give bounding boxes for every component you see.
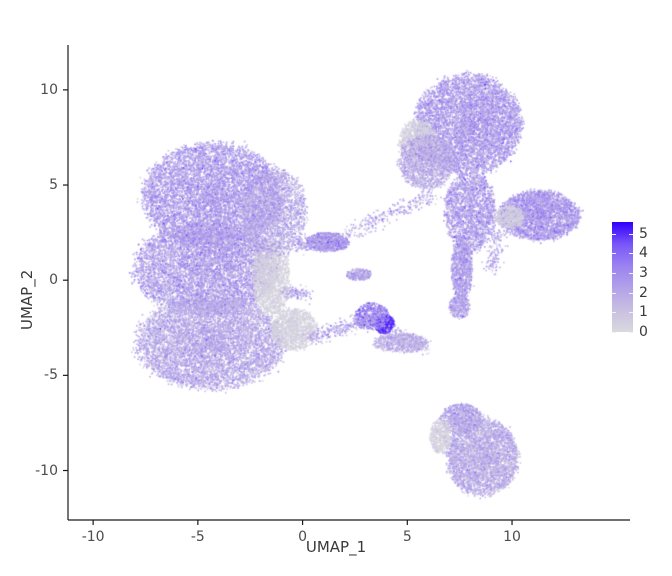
- scatter-plot-canvas: [0, 0, 672, 576]
- legend-tick-left: [612, 293, 616, 294]
- y-tick-label: 10: [0, 82, 58, 98]
- legend-tick-right: [629, 293, 633, 294]
- umap-feature-plot: MYL6 -10-50510 -10-50510 UMAP_1 UMAP_2 5…: [0, 0, 672, 576]
- legend-tick-left: [612, 273, 616, 274]
- legend-tick-left: [612, 312, 616, 313]
- legend-label: 5: [639, 226, 648, 242]
- y-tick-label: -10: [0, 463, 58, 479]
- legend-label: 0: [639, 324, 648, 340]
- legend-tick-left: [612, 253, 616, 254]
- legend-label: 4: [639, 245, 648, 261]
- legend-tick-right: [629, 273, 633, 274]
- legend-label: 1: [639, 304, 648, 320]
- legend-tick-left: [612, 234, 616, 235]
- legend-tick-left: [612, 332, 616, 333]
- legend-tick-right: [629, 253, 633, 254]
- legend-label: 3: [639, 265, 648, 281]
- y-tick-label: 5: [0, 177, 58, 193]
- legend-tick-right: [629, 332, 633, 333]
- x-axis-title: UMAP_1: [0, 538, 672, 556]
- y-tick-label: -5: [0, 367, 58, 383]
- legend-tick-right: [629, 234, 633, 235]
- legend-label: 2: [639, 285, 648, 301]
- legend-tick-right: [629, 312, 633, 313]
- y-axis-title: UMAP_2: [18, 270, 36, 330]
- legend-colorbar[interactable]: [612, 222, 633, 332]
